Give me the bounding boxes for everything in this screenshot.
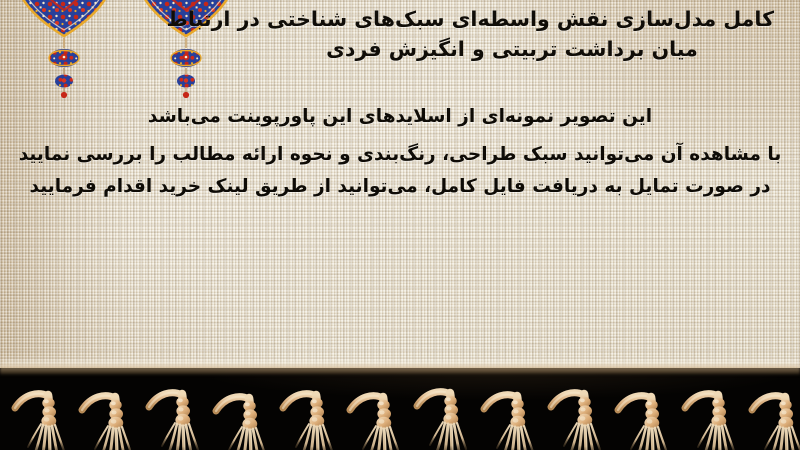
slide-title-line-1: کامل مدل‌سازی نقش واسطه‌ای سبک‌های شناخت… <box>240 4 784 34</box>
fringe-tassel <box>618 396 667 450</box>
fringe-tassel <box>15 394 64 450</box>
fringe-tassel <box>149 393 198 450</box>
slide-body-text: این تصویر نمونه‌ای از اسلایدهای این پاور… <box>16 108 784 197</box>
slide-canvas: کامل مدل‌سازی نقش واسطه‌ای سبک‌های شناخت… <box>0 0 800 450</box>
body-line-1: این تصویر نمونه‌ای از اسلایدهای این پاور… <box>16 108 784 127</box>
medallion-right-pendant <box>171 38 201 98</box>
fringe-tassel <box>283 394 332 450</box>
slide-title: کامل مدل‌سازی نقش واسطه‌ای سبک‌های شناخت… <box>240 4 784 65</box>
fringe-tassel <box>484 395 533 450</box>
fringe-tassel <box>685 394 734 450</box>
body-line-2: با مشاهده آن می‌توانید سبک طراحی، رنگ‌بن… <box>16 146 784 165</box>
fringe-tassel <box>82 396 131 450</box>
slide-title-line-2: میان برداشت تربیتی و انگیزش فردی <box>240 34 784 64</box>
medallion-left-icon <box>8 0 128 42</box>
fringe-tassel <box>551 393 600 450</box>
fringe-tassel <box>216 397 265 450</box>
fringe-tassel <box>417 392 466 450</box>
carpet-fringe-tassels <box>0 354 800 450</box>
medallion-left-pendant <box>49 38 79 98</box>
fringe-tassel <box>752 396 800 450</box>
tassel-row <box>15 392 800 450</box>
body-line-3: در صورت تمایل به دریافت فایل کامل، می‌تو… <box>16 178 784 197</box>
fringe-tassel <box>350 396 399 450</box>
